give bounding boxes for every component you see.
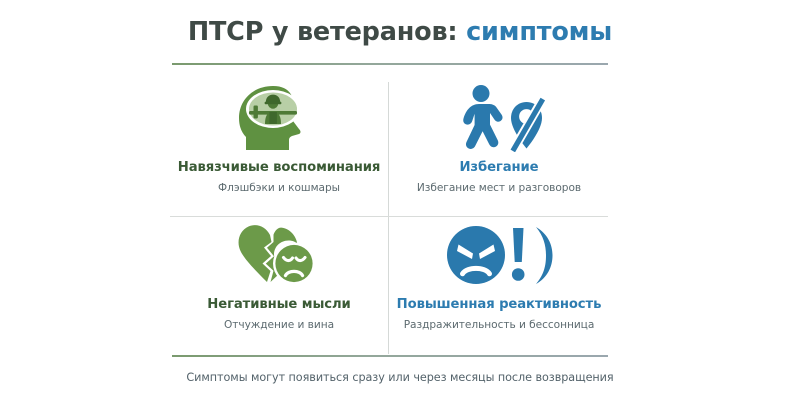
symptom-card-hyperarousal[interactable]: Повышенная реактивность Раздражительност… [390, 217, 608, 356]
head-with-soldier-thought-icon [233, 82, 325, 154]
page-title: ПТСР у ветеранов: симптомы [0, 18, 800, 46]
symptom-card-negative-thoughts[interactable]: Негативные мысли Отчуждение и вина [170, 217, 388, 356]
title-divider-rule [172, 63, 608, 65]
footer-divider-rule [172, 355, 608, 357]
symptom-card-avoidance[interactable]: Избегание Избегание мест и разговоров [390, 76, 608, 215]
symptom-title: Негативные мысли [207, 297, 350, 312]
page-title-accent: симптомы [466, 17, 612, 47]
page-title-main: ПТСР у ветеранов: [188, 17, 458, 47]
symptom-subtitle: Раздражительность и бессонница [404, 319, 595, 331]
footer-note: Симптомы могут появиться сразу или через… [0, 371, 800, 384]
symptom-title: Повышенная реактивность [397, 297, 602, 312]
symptom-subtitle: Избегание мест и разговоров [417, 182, 581, 194]
symptom-subtitle: Отчуждение и вина [224, 319, 334, 331]
symptom-title: Избегание [459, 160, 538, 175]
symptom-subtitle: Флэшбэки и кошмары [218, 182, 340, 194]
walking-person-no-location-icon [449, 82, 549, 154]
broken-heart-sad-face-icon [229, 219, 329, 291]
ptsd-symptoms-infographic: ПТСР у ветеранов: симптомы [0, 0, 800, 400]
angry-face-exclamation-moon-icon [444, 219, 554, 291]
symptom-title: Навязчивые воспоминания [178, 160, 380, 175]
symptom-card-intrusive-memories[interactable]: Навязчивые воспоминания Флэшбэки и кошма… [170, 76, 388, 215]
symptom-grid: Навязчивые воспоминания Флэшбэки и кошма… [170, 76, 610, 354]
